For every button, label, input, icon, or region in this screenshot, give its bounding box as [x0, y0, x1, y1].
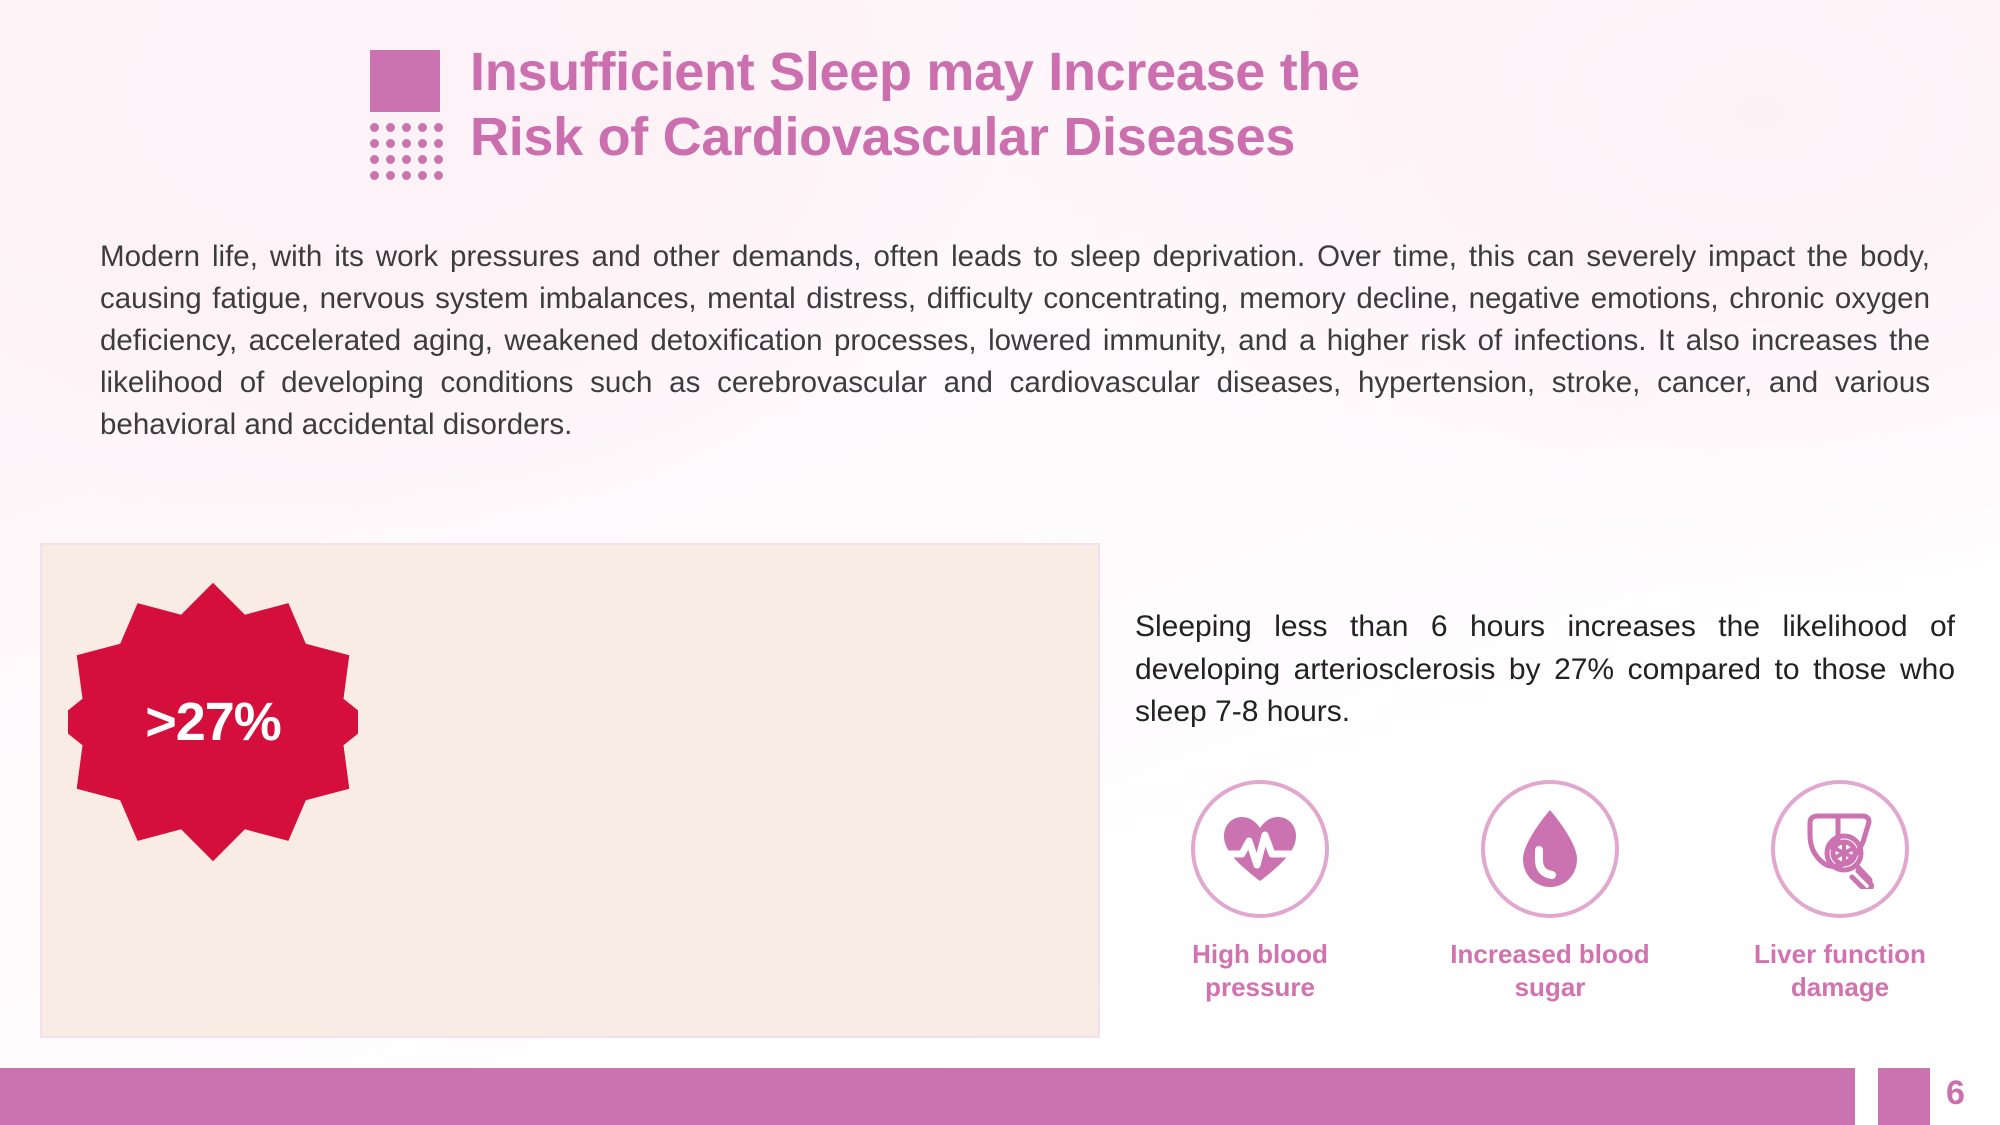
risk-icon-circle — [1481, 780, 1619, 918]
decoration-dot — [434, 155, 443, 164]
risk-caption: Liver function damage — [1715, 938, 1965, 1003]
decoration-dot — [434, 171, 443, 180]
decoration-dot — [418, 123, 427, 132]
summary-paragraph: Sleeping less than 6 hours increases the… — [1135, 606, 1955, 734]
decoration-dot — [386, 123, 395, 132]
liver-magnifier-icon — [1798, 809, 1882, 889]
percent-badge-label: >27% — [68, 577, 358, 867]
infographic-panel: >27% — [40, 543, 1100, 1038]
decoration-dot — [402, 171, 411, 180]
footer-bar — [0, 1068, 1855, 1125]
decoration-dot — [386, 155, 395, 164]
blood-drop-icon — [1519, 808, 1581, 890]
percent-badge: >27% — [68, 577, 358, 867]
header-decoration — [370, 40, 442, 180]
slide-header: Insufficient Sleep may Increase the Risk… — [370, 40, 1360, 180]
decoration-dot — [402, 123, 411, 132]
decoration-dot — [386, 171, 395, 180]
decoration-dot — [418, 155, 427, 164]
risk-item-increased-blood-sugar: Increased blood sugar — [1425, 780, 1675, 1003]
decoration-dot — [370, 155, 379, 164]
intro-paragraph: Modern life, with its work pressures and… — [100, 236, 1930, 445]
page-number: 6 — [1946, 1074, 1965, 1113]
risk-icon-circle — [1191, 780, 1329, 918]
decoration-dot — [370, 139, 379, 148]
decoration-dot — [402, 155, 411, 164]
heart-pulse-icon — [1220, 813, 1300, 885]
decoration-square — [370, 50, 440, 112]
slide-root: Insufficient Sleep may Increase the Risk… — [0, 0, 2000, 1125]
risk-caption: Increased blood sugar — [1425, 938, 1675, 1003]
risk-icon-row: High blood pressure Increased blood suga… — [1135, 780, 1965, 1003]
decoration-dot — [434, 139, 443, 148]
decoration-dot — [418, 171, 427, 180]
decoration-dot — [370, 171, 379, 180]
risk-item-high-blood-pressure: High blood pressure — [1135, 780, 1385, 1003]
decoration-dot — [402, 139, 411, 148]
decoration-dot — [370, 123, 379, 132]
decoration-dot-grid — [370, 123, 440, 180]
risk-caption: High blood pressure — [1135, 938, 1385, 1003]
footer-accent-block — [1878, 1068, 1930, 1125]
risk-icon-circle — [1771, 780, 1909, 918]
risk-item-liver-function-damage: Liver function damage — [1715, 780, 1965, 1003]
decoration-dot — [418, 139, 427, 148]
page-title: Insufficient Sleep may Increase the Risk… — [470, 40, 1360, 170]
decoration-dot — [434, 123, 443, 132]
decoration-dot — [386, 139, 395, 148]
